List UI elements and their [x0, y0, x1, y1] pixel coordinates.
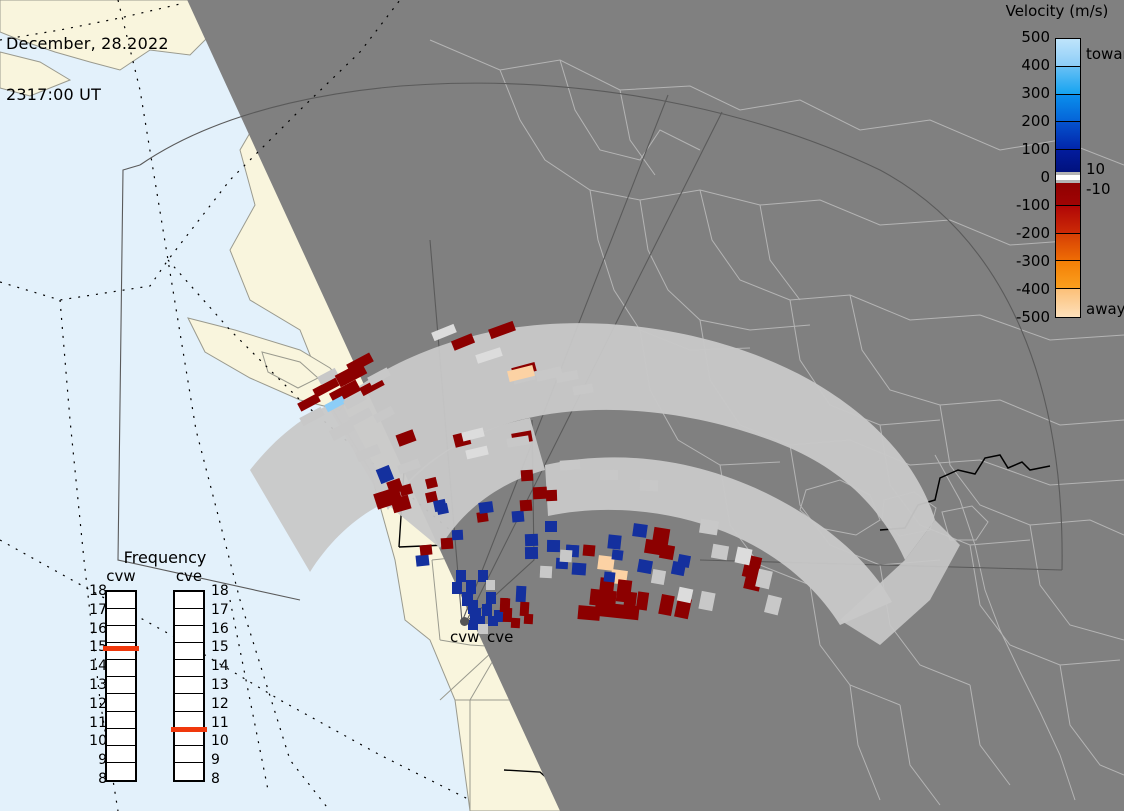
- frequency-label-cvw: 10: [85, 733, 107, 749]
- frequency-label-cve: 17: [211, 602, 233, 618]
- velocity-cell: [600, 470, 618, 480]
- velocity-cell: [572, 563, 587, 576]
- velocity-cell: [545, 521, 557, 532]
- velocity-cell: [520, 500, 533, 512]
- frequency-tick: [107, 763, 135, 780]
- velocity-cell: [452, 530, 464, 541]
- frequency-tick: [107, 660, 135, 677]
- velocity-cell: [525, 534, 538, 546]
- velocity-cell: [546, 490, 557, 501]
- velocity-cell: [486, 580, 495, 590]
- velocity-cell: [560, 550, 573, 563]
- velocity-cell: [466, 580, 476, 594]
- frequency-tick: [175, 746, 203, 763]
- velocity-cell: [659, 544, 675, 560]
- superdarn-fanplot: December, 28.2022 2317:00 UT Velocity (m…: [0, 0, 1124, 811]
- velocity-cell: [521, 470, 534, 482]
- velocity-cell: [525, 547, 538, 559]
- colorbar-title: Velocity (m/s): [988, 2, 1124, 20]
- station-label-cvw: cvw: [450, 628, 479, 646]
- frequency-tick: [175, 660, 203, 677]
- velocity-cell: [607, 534, 621, 549]
- frequency-tick: [107, 592, 135, 609]
- frequency-label-cve: 18: [211, 583, 233, 599]
- velocity-cell: [452, 582, 462, 594]
- velocity-cell: [677, 554, 691, 568]
- frequency-marker: [103, 646, 139, 651]
- velocity-cell: [611, 549, 623, 560]
- velocity-cell: [540, 566, 553, 579]
- frequency-tick: [175, 643, 203, 660]
- frequency-title: Frequency: [85, 548, 245, 567]
- velocity-cell: [651, 569, 666, 585]
- velocity-cell: [637, 559, 653, 574]
- frequency-label-cve: 12: [211, 696, 233, 712]
- frequency-label-cve: 13: [211, 677, 233, 693]
- frequency-scale-cve[interactable]: [173, 590, 205, 782]
- velocity-cell: [503, 608, 512, 622]
- velocity-cell: [478, 501, 493, 514]
- frequency-label-cve: 16: [211, 621, 233, 637]
- frequency-label-cvw: 16: [85, 621, 107, 637]
- frequency-label-cvw: 12: [85, 696, 107, 712]
- velocity-cell: [560, 459, 581, 470]
- frequency-tick: [107, 609, 135, 626]
- velocity-cell: [482, 604, 492, 616]
- velocity-cell: [486, 592, 496, 604]
- velocity-cell: [652, 527, 671, 547]
- velocity-cell: [577, 605, 600, 621]
- frequency-scale-cvw[interactable]: [105, 590, 137, 782]
- frequency-label-cve: 8: [211, 771, 233, 787]
- frequency-marker: [171, 727, 207, 732]
- frequency-tick: [175, 677, 203, 694]
- frequency-label-cve: 9: [211, 752, 233, 768]
- frequency-label-cvw: 9: [85, 752, 107, 768]
- frequency-label-cvw: 8: [85, 771, 107, 787]
- frequency-tick: [175, 626, 203, 643]
- velocity-cell: [456, 570, 466, 582]
- station-label-cve: cve: [487, 628, 513, 646]
- radar-site-marker: [460, 617, 469, 626]
- frequency-tick: [175, 609, 203, 626]
- frequency-label-cvw: 11: [85, 715, 107, 731]
- velocity-cell: [623, 591, 637, 612]
- velocity-cell: [420, 544, 433, 555]
- velocity-cell: [677, 587, 694, 604]
- velocity-cell: [604, 571, 616, 582]
- velocity-cell: [547, 540, 560, 552]
- frequency-tick: [107, 746, 135, 763]
- velocity-cell: [640, 480, 658, 492]
- frequency-tick: [175, 712, 203, 729]
- frequency-tick: [175, 694, 203, 711]
- frequency-tick: [107, 677, 135, 694]
- velocity-cell: [441, 538, 454, 550]
- velocity-cell: [583, 544, 596, 556]
- frequency-label-cvw: 14: [85, 658, 107, 674]
- frequency-panel: Frequency cvw cve 1818171716161515141413…: [85, 548, 245, 788]
- velocity-cell: [488, 616, 498, 626]
- velocity-cell: [516, 586, 527, 603]
- frequency-column-name-cve: cve: [159, 567, 219, 585]
- frequency-tick: [107, 729, 135, 746]
- frequency-label-cve: 10: [211, 733, 233, 749]
- frequency-label-cve: 11: [211, 715, 233, 731]
- frequency-tick: [107, 712, 135, 729]
- timestamp-date: December, 28.2022: [6, 35, 169, 52]
- frequency-label-cvw: 17: [85, 602, 107, 618]
- frequency-tick: [175, 592, 203, 609]
- frequency-label-cvw: 13: [85, 677, 107, 693]
- velocity-cell: [524, 614, 534, 624]
- timestamp: December, 28.2022 2317:00 UT: [6, 1, 169, 137]
- frequency-tick: [107, 694, 135, 711]
- velocity-cell: [415, 554, 429, 566]
- timestamp-time: 2317:00 UT: [6, 86, 169, 103]
- velocity-cell: [632, 523, 648, 538]
- frequency-label-cvw: 18: [85, 583, 107, 599]
- velocity-cell: [511, 618, 521, 628]
- frequency-tick: [175, 763, 203, 780]
- frequency-tick: [107, 626, 135, 643]
- velocity-cell: [711, 544, 729, 561]
- velocity-cell: [512, 510, 525, 522]
- velocity-cell: [533, 487, 548, 500]
- frequency-label-cve: 14: [211, 658, 233, 674]
- velocity-colorbar: Velocity (m/s): [980, 0, 1124, 330]
- frequency-label-cve: 15: [211, 639, 233, 655]
- velocity-cell: [699, 519, 719, 536]
